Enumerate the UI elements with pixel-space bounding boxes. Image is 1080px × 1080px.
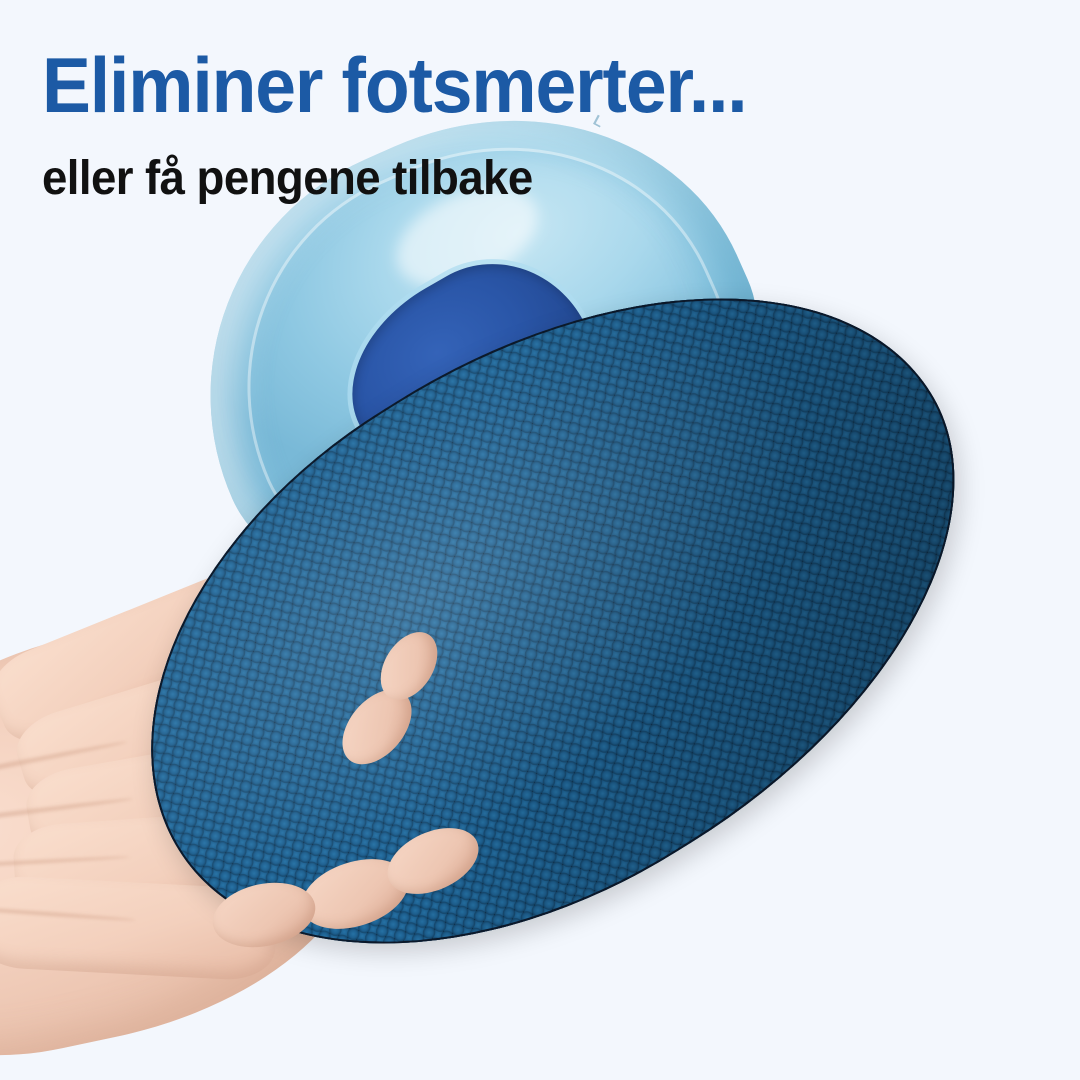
ad-creative-canvas: L Eliminer fotsmerter... eller få pengen… <box>0 0 1080 1080</box>
subheadline: eller få pengene tilbake <box>42 152 533 206</box>
headline: Eliminer fotsmerter... <box>42 44 747 126</box>
